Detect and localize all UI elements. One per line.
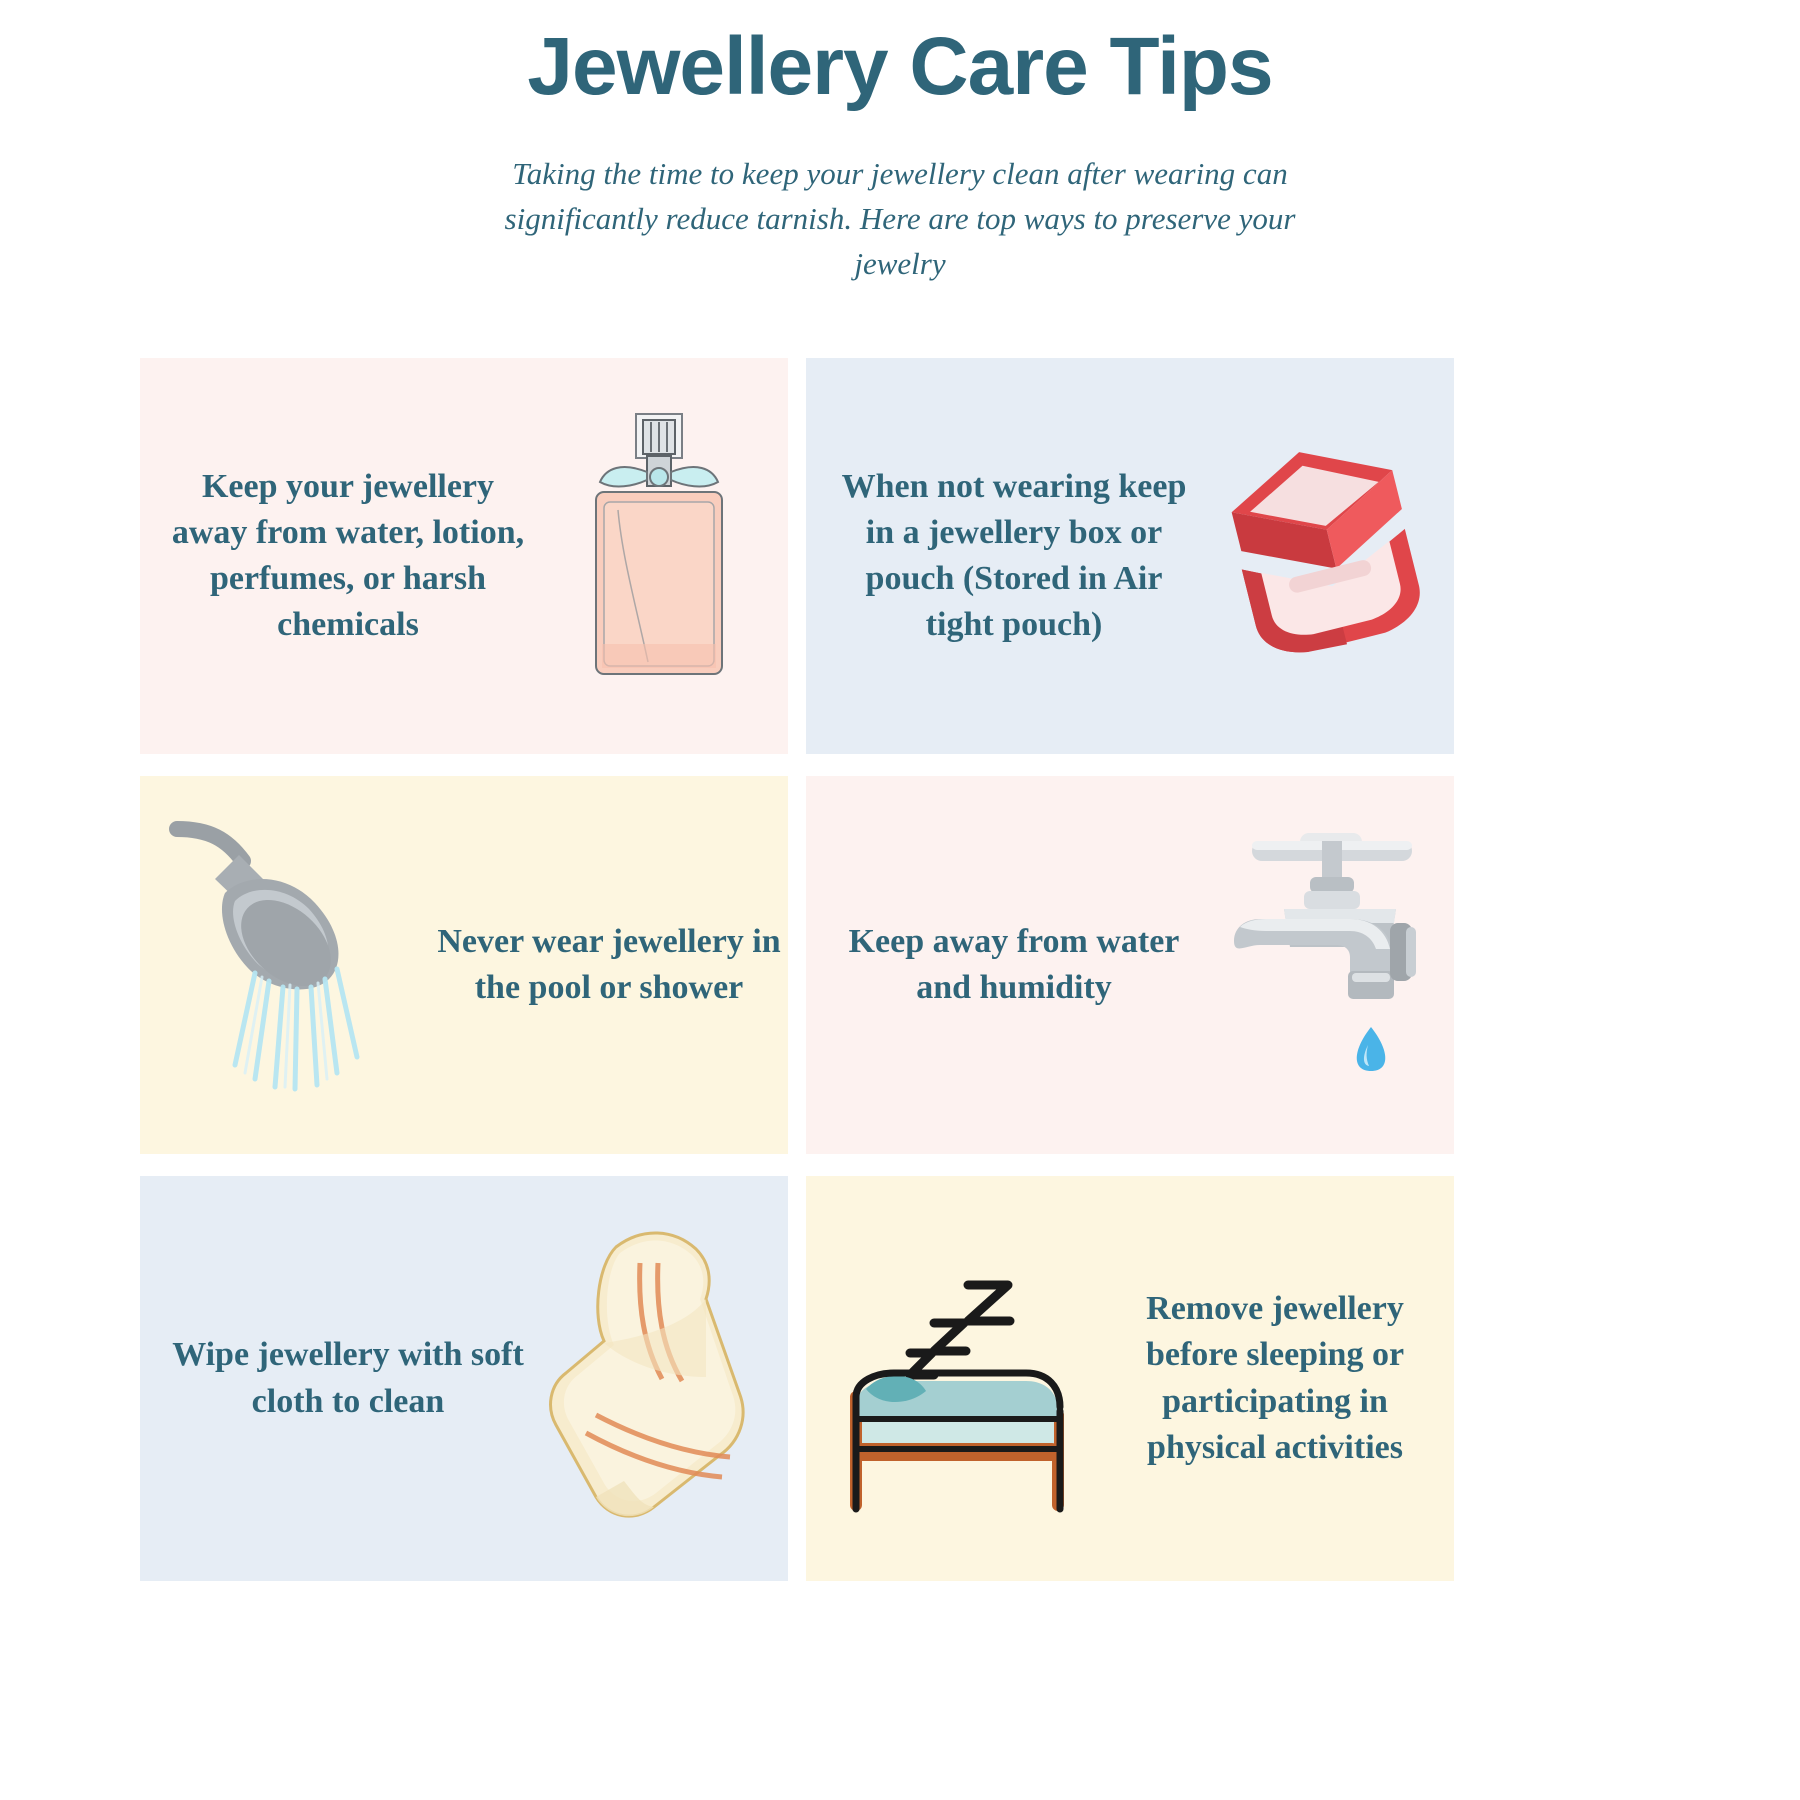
shower-head-icon [164, 815, 424, 1115]
tip-card-humidity: Keep away from water and humidity [806, 776, 1454, 1154]
page-subtitle: Taking the time to keep your jewellery c… [500, 152, 1300, 287]
tip-card-sleep-text: Remove jewellery before sleeping or part… [1100, 1286, 1450, 1471]
tip-card-chemicals: Keep your jewellery away from water, lot… [140, 358, 788, 754]
perfume-bottle-icon [534, 406, 784, 706]
tip-card-sleep: Remove jewellery before sleeping or part… [806, 1176, 1454, 1581]
jewellery-box-icon [1200, 431, 1450, 681]
soft-cloth-icon [534, 1219, 784, 1539]
tips-grid: Keep your jewellery away from water, lot… [140, 358, 1640, 1581]
tip-card-humidity-text: Keep away from water and humidity [834, 919, 1194, 1011]
sleeping-bed-icon [830, 1229, 1090, 1529]
tip-card-chemicals-text: Keep your jewellery away from water, lot… [168, 464, 528, 649]
tip-card-wipe-text: Wipe jewellery with soft cloth to clean [168, 1332, 528, 1424]
tip-card-storage: When not wearing keep in a jewellery box… [806, 358, 1454, 754]
water-tap-icon [1200, 815, 1450, 1115]
header: Jewellery Care Tips Taking the time to k… [0, 0, 1800, 287]
page-title: Jewellery Care Tips [0, 26, 1800, 108]
tip-card-shower-text: Never wear jewellery in the pool or show… [434, 919, 784, 1011]
infographic-page: Jewellery Care Tips Taking the time to k… [0, 0, 1800, 1800]
tip-card-shower: Never wear jewellery in the pool or show… [140, 776, 788, 1154]
tip-card-wipe: Wipe jewellery with soft cloth to clean [140, 1176, 788, 1581]
tip-card-storage-text: When not wearing keep in a jewellery box… [834, 464, 1194, 649]
